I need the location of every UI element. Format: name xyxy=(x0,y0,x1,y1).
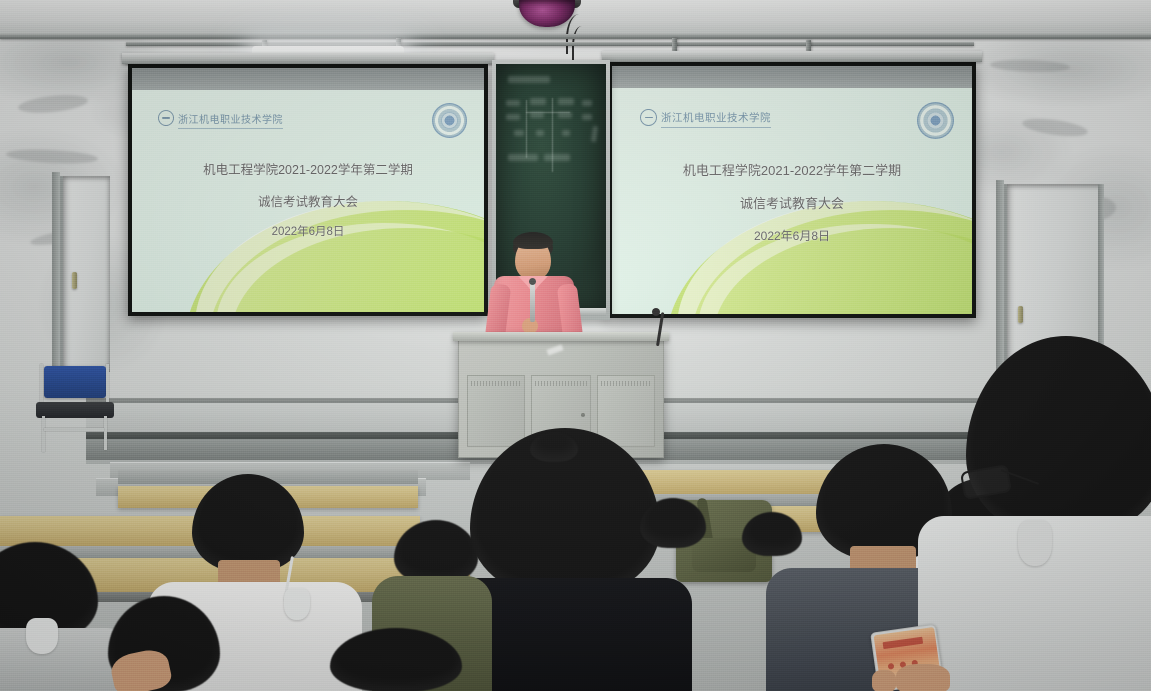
slide-logo-text: 浙江机电职业技术学院 xyxy=(661,110,771,125)
right-projection-screen[interactable]: 浙江机电职业技术学院 机电工程学院2021-2022学年第二学期 诚信考试教育大… xyxy=(608,62,976,318)
crest-gear-teeth xyxy=(915,100,956,141)
face-mask xyxy=(26,618,58,654)
door-handle-icon[interactable] xyxy=(72,272,77,289)
chalk-writing xyxy=(536,130,544,136)
student xyxy=(958,336,1151,691)
chalk-writing xyxy=(558,98,574,105)
chair-leg xyxy=(42,416,45,452)
lectern-vent-slots xyxy=(601,381,650,386)
chalk-writing xyxy=(558,112,572,118)
chalk-writing xyxy=(506,114,520,120)
screen-top-margin xyxy=(132,68,484,90)
slide-subhead: 诚信考试教育大会 xyxy=(132,196,484,209)
phone-ui-bar xyxy=(887,662,894,669)
handheld-microphone xyxy=(530,282,535,322)
lectern-vent-slots xyxy=(535,381,586,386)
hand-holding-phone xyxy=(896,664,950,691)
slide-logo-text: 浙江机电职业技术学院 xyxy=(178,111,283,126)
logo-underline xyxy=(178,128,283,129)
blue-side-chair[interactable] xyxy=(30,362,130,452)
presenter-hair-top xyxy=(513,232,553,249)
school-crest-icon xyxy=(432,103,467,138)
chalk-writing xyxy=(506,100,520,106)
gooseneck-mic-capsule-icon xyxy=(652,308,660,316)
school-crest-icon xyxy=(917,102,954,139)
phone-ui-bar xyxy=(882,636,923,648)
student-hair xyxy=(530,432,578,462)
lectern-scuff xyxy=(546,344,563,355)
right-slide-text: 机电工程学院2021-2022学年第二学期 诚信考试教育大会 2022年6月8日 xyxy=(612,164,972,242)
face-mask xyxy=(284,588,310,620)
left-slide-text: 机电工程学院2021-2022学年第二学期 诚信考试教育大会 2022年6月8日 xyxy=(132,164,484,239)
lectern-top-surface xyxy=(453,332,669,341)
chalk-writing xyxy=(544,154,570,161)
chair-backrest xyxy=(44,366,106,398)
chair-leg xyxy=(44,428,104,431)
left-door-jamb xyxy=(52,172,60,368)
lectern-vent-slots xyxy=(471,381,520,386)
left-projection-screen[interactable]: 浙江机电职业技术学院 机电工程学院2021-2022学年第二学期 诚信考试教育大… xyxy=(128,64,488,316)
slide-university-logo: 浙江机电职业技术学院 xyxy=(158,110,283,126)
student-hair xyxy=(394,520,478,584)
chalk-writing xyxy=(530,112,544,118)
chalk-writing xyxy=(514,130,524,136)
chalk-writing xyxy=(591,126,598,143)
student-hair xyxy=(966,336,1151,536)
door-handle-icon[interactable] xyxy=(1018,306,1023,323)
chalk-writing xyxy=(582,100,592,106)
right-slide-surface: 浙江机电职业技术学院 机电工程学院2021-2022学年第二学期 诚信考试教育大… xyxy=(612,88,972,314)
left-doorway[interactable] xyxy=(60,176,110,372)
crest-gear-teeth xyxy=(430,101,469,140)
logo-underline xyxy=(661,127,771,128)
chalk-writing xyxy=(508,154,538,161)
screen-top-margin xyxy=(612,66,972,88)
lectern-latch-icon[interactable] xyxy=(581,413,585,417)
left-slide-surface: 浙江机电职业技术学院 机电工程学院2021-2022学年第二学期 诚信考试教育大… xyxy=(132,90,484,312)
chalk-writing xyxy=(562,130,570,136)
chalk-writing xyxy=(508,76,550,83)
logo-ring-icon xyxy=(640,109,657,126)
logo-ring-icon xyxy=(158,110,174,126)
slide-headline: 机电工程学院2021-2022学年第二学期 xyxy=(612,164,972,177)
microphone-capsule-icon xyxy=(529,278,536,285)
slide-university-logo: 浙江机电职业技术学院 xyxy=(640,109,771,126)
slide-headline: 机电工程学院2021-2022学年第二学期 xyxy=(132,164,484,177)
chair-seat xyxy=(36,402,114,418)
student-hair xyxy=(192,474,304,572)
chalk-rule xyxy=(526,100,527,158)
ceiling-rail xyxy=(0,34,1151,39)
slide-date: 2022年6月8日 xyxy=(612,230,972,242)
student-hair xyxy=(742,512,802,556)
slide-subhead: 诚信考试教育大会 xyxy=(612,197,972,210)
thumb xyxy=(872,670,896,691)
classroom-photo-scene: 浙江机电职业技术学院 机电工程学院2021-2022学年第二学期 诚信考试教育大… xyxy=(0,0,1151,691)
chalk-writing xyxy=(582,114,592,120)
face-mask xyxy=(1018,520,1052,566)
chair-leg xyxy=(104,416,107,450)
slide-date: 2022年6月8日 xyxy=(132,227,484,239)
slide-swoosh xyxy=(231,228,484,312)
chalk-writing xyxy=(530,98,546,105)
